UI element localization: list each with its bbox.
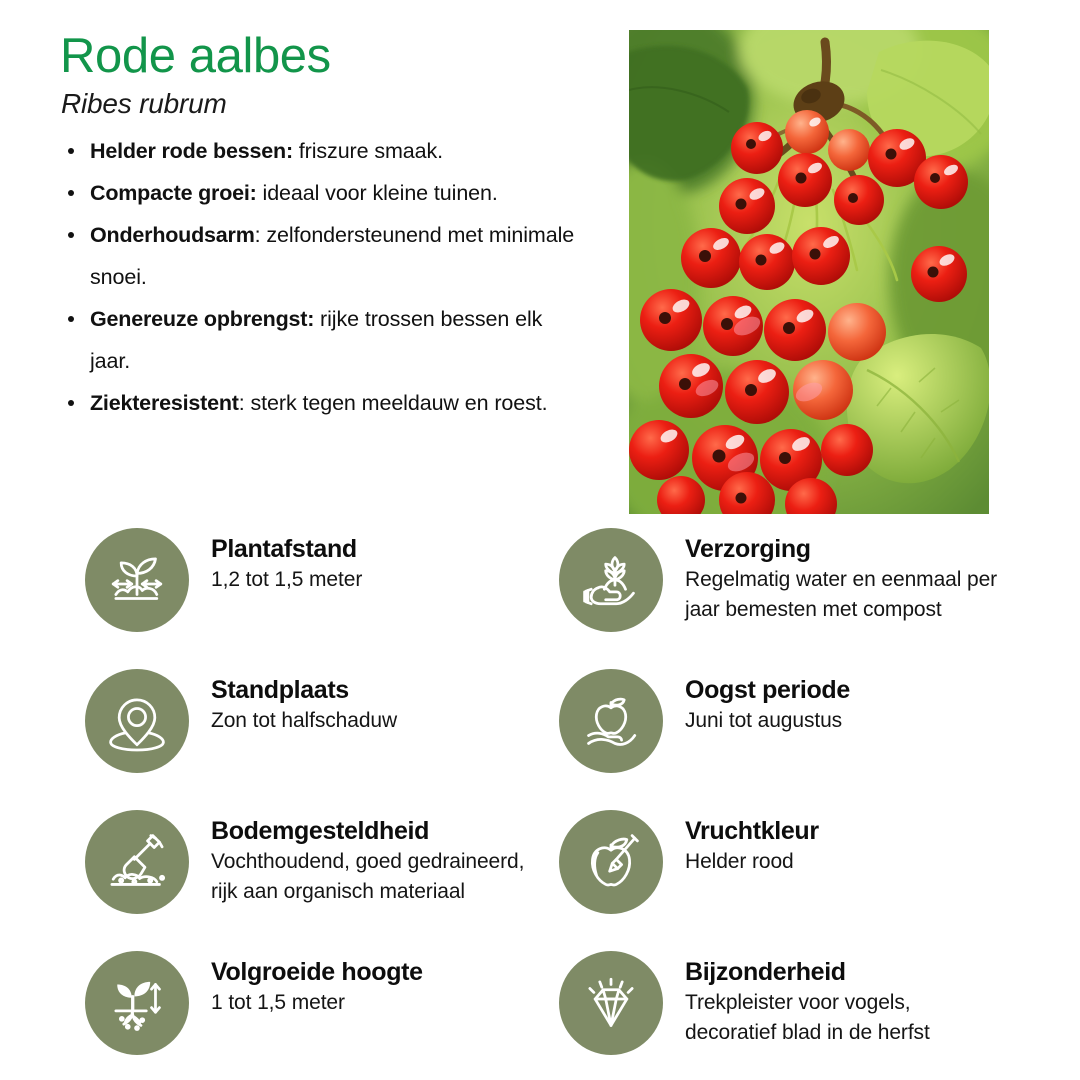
location-pin-icon bbox=[104, 688, 170, 754]
hand-apple-icon bbox=[578, 688, 644, 754]
soil-badge bbox=[85, 810, 189, 914]
harvest-badge bbox=[559, 669, 663, 773]
spec-plantafstand: Plantafstand 1,2 tot 1,5 meter bbox=[85, 528, 362, 632]
spec-value: Helder rood bbox=[685, 847, 819, 877]
list-item-rest: : sterk tegen meeldauw en roest. bbox=[239, 391, 548, 415]
feature-list: Helder rode bessen: friszure smaak. Comp… bbox=[60, 130, 580, 424]
bullet-dot bbox=[68, 400, 74, 406]
list-item-lead: Compacte groei: bbox=[90, 181, 257, 205]
bullet-dot bbox=[68, 190, 74, 196]
spec-value: Vochthoudend, goed gedraineerd, rijk aan… bbox=[211, 847, 531, 907]
spec-volgroeide-hoogte: Volgroeide hoogte 1 tot 1,5 meter bbox=[85, 951, 423, 1055]
spec-text: Plantafstand 1,2 tot 1,5 meter bbox=[211, 528, 362, 595]
spec-text: Volgroeide hoogte 1 tot 1,5 meter bbox=[211, 951, 423, 1018]
spec-text: Vruchtkleur Helder rood bbox=[685, 810, 819, 877]
plant-height-badge bbox=[85, 951, 189, 1055]
hand-plant-icon bbox=[578, 547, 644, 613]
list-item: Onderhoudsarm: zelfondersteunend met min… bbox=[60, 214, 580, 298]
plant-spacing-badge bbox=[85, 528, 189, 632]
spec-text: Bodemgesteldheid Vochthoudend, goed gedr… bbox=[211, 810, 531, 907]
spec-label: Volgroeide hoogte bbox=[211, 958, 423, 986]
list-item: Genereuze opbrengst: rijke trossen besse… bbox=[60, 298, 580, 382]
fruit-color-badge bbox=[559, 810, 663, 914]
spec-value: 1 tot 1,5 meter bbox=[211, 988, 423, 1018]
list-item-lead: Ziekteresistent bbox=[90, 391, 239, 415]
list-item-rest: ideaal voor kleine tuinen. bbox=[257, 181, 498, 205]
spec-label: Vruchtkleur bbox=[685, 817, 819, 845]
bullet-dot bbox=[68, 316, 74, 322]
botanical-name: Ribes rubrum bbox=[61, 88, 227, 120]
spec-value: 1,2 tot 1,5 meter bbox=[211, 565, 362, 595]
spec-value: Trekpleister voor vogels, decoratief bla… bbox=[685, 988, 1005, 1048]
spec-label: Standplaats bbox=[211, 676, 397, 704]
spec-verzorging: Verzorging Regelmatig water en eenmaal p… bbox=[559, 528, 1005, 632]
spec-value: Juni tot augustus bbox=[685, 706, 850, 736]
spec-bodemgesteldheid: Bodemgesteldheid Vochthoudend, goed gedr… bbox=[85, 810, 531, 914]
spec-text: Bijzonderheid Trekpleister voor vogels, … bbox=[685, 951, 1005, 1048]
spec-label: Bijzonderheid bbox=[685, 958, 1005, 986]
location-badge bbox=[85, 669, 189, 773]
care-badge bbox=[559, 528, 663, 632]
spec-label: Oogst periode bbox=[685, 676, 850, 704]
red-currant-photo bbox=[629, 30, 989, 514]
spec-text: Verzorging Regelmatig water en eenmaal p… bbox=[685, 528, 1005, 625]
spec-text: Standplaats Zon tot halfschaduw bbox=[211, 669, 397, 736]
bullet-dot bbox=[68, 232, 74, 238]
plant-info-card: Rode aalbes Ribes rubrum Helder rode bes… bbox=[0, 0, 1080, 1080]
list-item-lead: Onderhoudsarm bbox=[90, 223, 255, 247]
plant-spacing-icon bbox=[104, 547, 170, 613]
list-item-lead: Genereuze opbrengst: bbox=[90, 307, 314, 331]
apple-brush-icon bbox=[578, 829, 644, 895]
list-item: Compacte groei: ideaal voor kleine tuine… bbox=[60, 172, 580, 214]
diamond-icon bbox=[578, 970, 644, 1036]
highlight-badge bbox=[559, 951, 663, 1055]
spec-oogst-periode: Oogst periode Juni tot augustus bbox=[559, 669, 850, 773]
shovel-soil-icon bbox=[104, 829, 170, 895]
plant-height-icon bbox=[104, 970, 170, 1036]
list-item: Ziekteresistent: sterk tegen meeldauw en… bbox=[60, 382, 580, 424]
spec-value: Regelmatig water en eenmaal per jaar bem… bbox=[685, 565, 1005, 625]
list-item-lead: Helder rode bessen: bbox=[90, 139, 293, 163]
page-title: Rode aalbes bbox=[60, 28, 331, 84]
spec-text: Oogst periode Juni tot augustus bbox=[685, 669, 850, 736]
list-item: Helder rode bessen: friszure smaak. bbox=[60, 130, 580, 172]
spec-standplaats: Standplaats Zon tot halfschaduw bbox=[85, 669, 397, 773]
spec-label: Plantafstand bbox=[211, 535, 362, 563]
spec-label: Bodemgesteldheid bbox=[211, 817, 531, 845]
list-item-rest: friszure smaak. bbox=[293, 139, 443, 163]
bullet-dot bbox=[68, 148, 74, 154]
spec-vruchtkleur: Vruchtkleur Helder rood bbox=[559, 810, 819, 914]
spec-label: Verzorging bbox=[685, 535, 1005, 563]
spec-value: Zon tot halfschaduw bbox=[211, 706, 397, 736]
spec-bijzonderheid: Bijzonderheid Trekpleister voor vogels, … bbox=[559, 951, 1005, 1055]
